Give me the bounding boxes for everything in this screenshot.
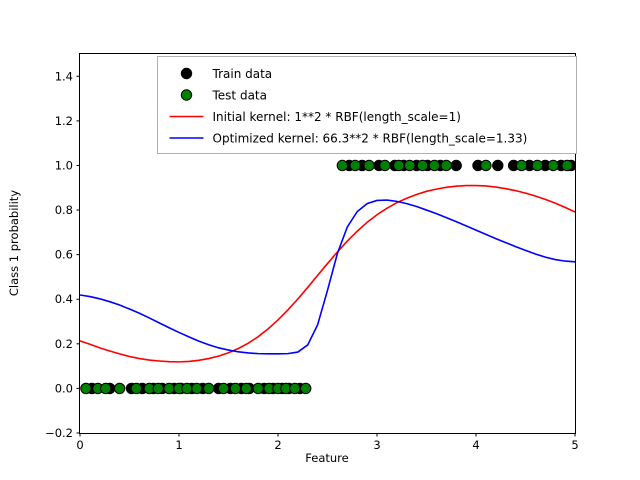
legend-marker-icon [181,90,191,100]
legend-entry-label: Test data [212,89,267,103]
train-point [493,160,503,170]
test-point [81,383,91,393]
test-point [516,160,526,170]
y-tick-label: 1.4 [55,69,73,83]
x-tick-label: 4 [472,438,479,452]
x-axis-label: Feature [305,451,348,465]
test-point [364,160,374,170]
legend-marker-icon [181,68,191,78]
train-point [451,160,461,170]
test-point [290,383,300,393]
test-point [182,383,192,393]
test-point [532,160,542,170]
y-tick-label: 0.6 [55,248,73,262]
y-tick-label: 0.0 [55,381,73,395]
test-point [164,383,174,393]
test-point [192,383,202,393]
legend[interactable]: Train dataTest dataInitial kernel: 1**2 … [158,57,577,154]
y-tick-label: −0.2 [45,426,73,440]
test-point [380,160,390,170]
test-point [481,160,491,170]
test-point [350,160,360,170]
test-point [131,383,141,393]
x-tick-label: 1 [175,438,182,452]
test-point [394,160,404,170]
test-point [153,383,163,393]
y-tick-label: 0.8 [55,203,73,217]
y-tick-label: 0.2 [55,337,73,351]
x-tick-label: 5 [571,438,578,452]
figure-canvas: 012345 −0.20.00.20.40.60.81.01.21.4 Feat… [0,0,640,480]
test-point [337,160,347,170]
test-point [429,160,439,170]
test-point [204,383,214,393]
test-point [548,160,558,170]
legend-entry-label: Initial kernel: 1**2 * RBF(length_scale=… [213,110,461,124]
test-point [241,383,251,393]
test-point [101,383,111,393]
gaussian-process-classifier-chart: 012345 −0.20.00.20.40.60.81.01.21.4 Feat… [0,0,640,480]
test-point [253,383,263,393]
test-point [230,383,240,393]
x-tick-label: 3 [373,438,380,452]
test-point [404,160,414,170]
legend-entry-label: Train data [212,67,273,81]
legend-entry-label: Optimized kernel: 66.3**2 * RBF(length_s… [213,132,528,146]
x-tick-label: 0 [76,438,83,452]
y-axis-label: Class 1 probability [7,190,21,296]
test-point [562,160,572,170]
test-point [417,160,427,170]
y-tick-label: 1.0 [55,158,73,172]
test-point [114,383,124,393]
x-tick-label: 2 [274,438,281,452]
test-point [218,383,228,393]
test-point [441,160,451,170]
y-tick-label: 1.2 [55,114,73,128]
y-tick-label: 0.4 [55,292,73,306]
test-point [301,383,311,393]
